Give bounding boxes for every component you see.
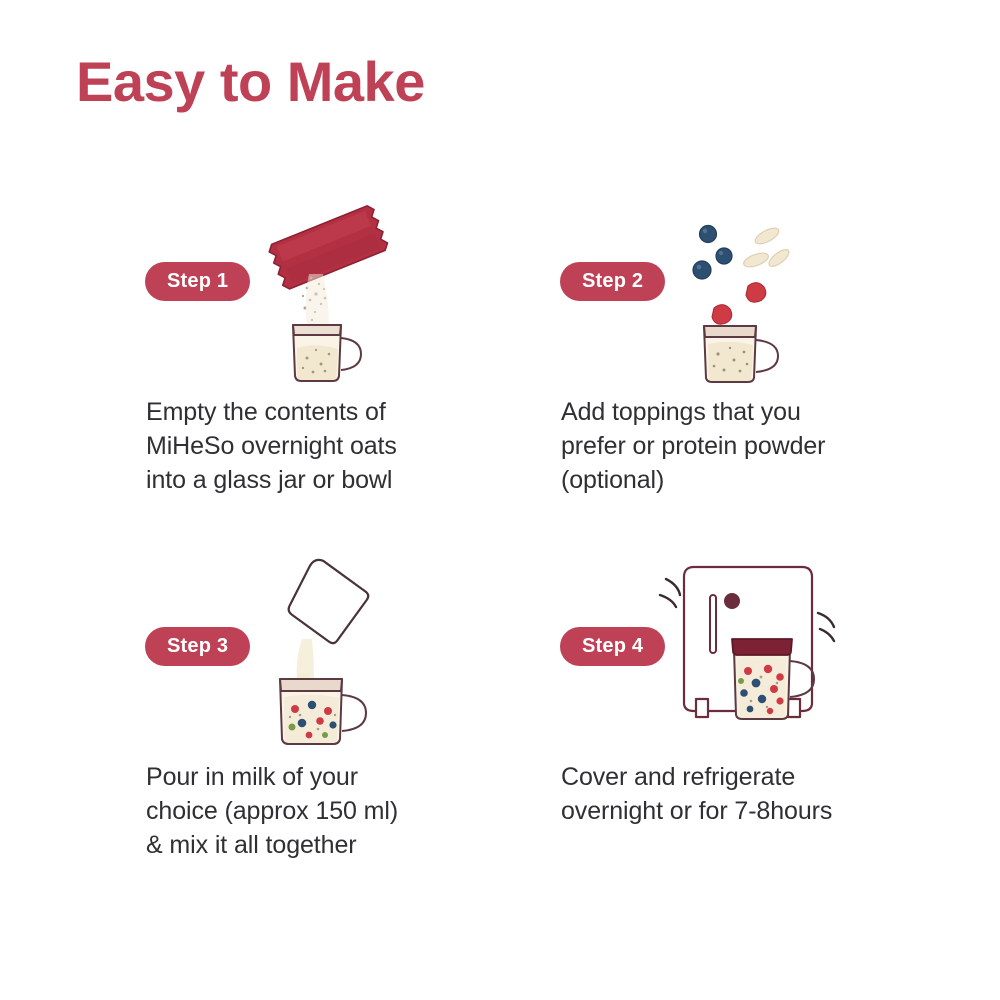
step-1-badge: Step 1 — [145, 262, 250, 301]
page-title: Easy to Make — [76, 48, 425, 115]
step-3-line-1: Pour in milk of your — [146, 760, 506, 794]
step-2-line-1: Add toppings that you — [561, 395, 921, 429]
step-2-badge: Step 2 — [560, 262, 665, 301]
step-3-line-2: choice (approx 150 ml) — [146, 794, 506, 828]
sachet-pouring-into-jar-icon — [237, 192, 427, 387]
step-card-2: Step 2 — [560, 190, 975, 555]
steps-grid: Step 1 — [0, 190, 1000, 920]
step-card-3: Step 3 — [145, 555, 560, 920]
step-4-line-1: Cover and refrigerate — [561, 760, 921, 794]
step-1-visual: Step 1 — [145, 190, 525, 385]
step-2-text: Add toppings that you prefer or protein … — [561, 395, 921, 497]
step-3-text: Pour in milk of your choice (approx 150 … — [146, 760, 506, 862]
step-1-line-3: into a glass jar or bowl — [146, 463, 506, 497]
step-2-line-2: prefer or protein powder — [561, 429, 921, 463]
step-3-line-3: & mix it all together — [146, 828, 506, 862]
step-3-visual: Step 3 — [145, 555, 525, 750]
step-1-line-1: Empty the contents of — [146, 395, 506, 429]
step-1-line-2: MiHeSo overnight oats — [146, 429, 506, 463]
toppings-falling-into-jar-icon — [652, 208, 832, 388]
step-4-line-2: overnight or for 7-8hours — [561, 794, 921, 828]
step-2-line-3: (optional) — [561, 463, 921, 497]
step-4-badge: Step 4 — [560, 627, 665, 666]
step-card-1: Step 1 — [145, 190, 560, 555]
step-4-text: Cover and refrigerate overnight or for 7… — [561, 760, 921, 828]
step-card-4: Step 4 — [560, 555, 975, 920]
step-1-text: Empty the contents of MiHeSo overnight o… — [146, 395, 506, 497]
step-4-visual: Step 4 — [560, 555, 940, 750]
step-3-badge: Step 3 — [145, 627, 250, 666]
milk-carton-pouring-into-jar-icon — [240, 555, 420, 750]
instructions-page: Easy to Make Step 1 — [0, 0, 1000, 1000]
step-2-visual: Step 2 — [560, 190, 940, 385]
